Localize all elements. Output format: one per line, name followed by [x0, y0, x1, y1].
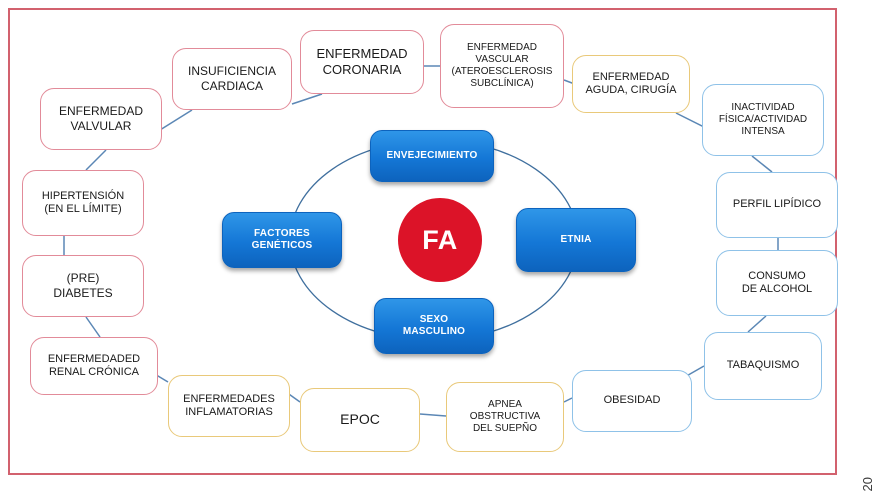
node-envejecimiento[interactable]: ENVEJECIMIENTO — [370, 130, 494, 182]
node-etnia[interactable]: ETNIA — [516, 208, 636, 272]
node-apnea-obstructiva[interactable]: APNEA OBSTRUCTIVA DEL SUEPÑO — [446, 382, 564, 452]
node-epoc[interactable]: EPOC — [300, 388, 420, 452]
node-tabaquismo[interactable]: TABAQUISMO — [704, 332, 822, 400]
node-insuficiencia-cardiaca[interactable]: INSUFICIENCIA CARDIACA — [172, 48, 292, 110]
node-perfil-lipidico[interactable]: PERFIL LIPÍDICO — [716, 172, 838, 238]
node-inactividad-fisica[interactable]: INACTIVIDAD FÍSICA/ACTIVIDAD INTENSA — [702, 84, 824, 156]
center-node-label: FA — [422, 225, 458, 256]
node-consumo-de-alcohol[interactable]: CONSUMO DE ALCOHOL — [716, 250, 838, 316]
node-hipertension[interactable]: HIPERTENSIÓN (EN EL LÍMITE) — [22, 170, 144, 236]
node-enfermedad-aguda-cirugia[interactable]: ENFERMEDAD AGUDA, CIRUGÍA — [572, 55, 690, 113]
node-enfermedades-inflamatorias[interactable]: ENFERMEDADES INFLAMATORIAS — [168, 375, 290, 437]
figure-canvas: FA ENVEJECIMIENTOETNIASEXO MASCULINOFACT… — [0, 0, 879, 491]
node-sexo-masculino[interactable]: SEXO MASCULINO — [374, 298, 494, 354]
copyright-label: ©ESC 2020 — [860, 477, 875, 491]
node-pre-diabetes[interactable]: (PRE) DIABETES — [22, 255, 144, 317]
node-enfermedaded-renal-cronica[interactable]: ENFERMEDADED RENAL CRÓNICA — [30, 337, 158, 395]
center-node-fa[interactable]: FA — [398, 198, 482, 282]
node-obesidad[interactable]: OBESIDAD — [572, 370, 692, 432]
node-enfermedad-valvular[interactable]: ENFERMEDAD VALVULAR — [40, 88, 162, 150]
node-factores-geneticos[interactable]: FACTORES GENÉTICOS — [222, 212, 342, 268]
node-enfermedad-vascular[interactable]: ENFERMEDAD VASCULAR (ATEROESCLEROSIS SUB… — [440, 24, 564, 108]
node-enfermedad-coronaria[interactable]: ENFERMEDAD CORONARIA — [300, 30, 424, 94]
